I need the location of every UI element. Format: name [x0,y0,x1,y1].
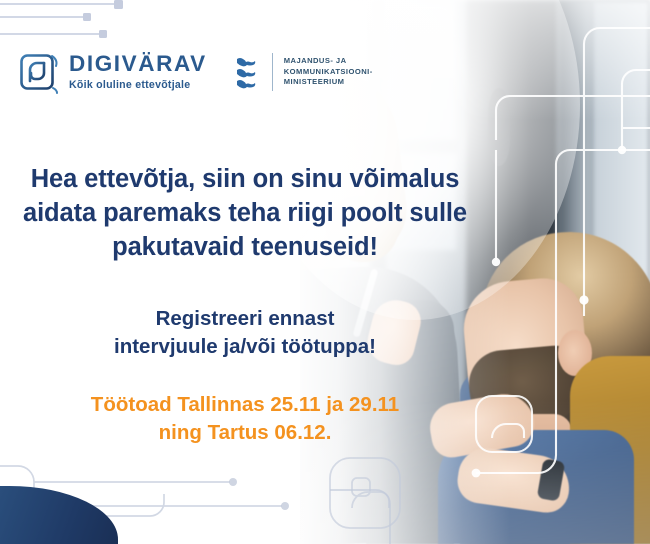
header-logos: DIGIVÄRAV Kõik oluline ettevõtjale Majan… [18,50,373,94]
dates-line-2: ning Tartus 06.12. [0,419,490,447]
brand-name: DIGIVÄRAV [69,53,207,76]
registration-callout: Registreeri ennast intervjuule ja/või tö… [0,305,490,362]
brand-tagline: Kõik oluline ettevõtjale [69,80,207,91]
dates-line-1: Töötoad Tallinnas 25.11 ja 29.11 [0,391,490,419]
promotional-banner: DIGIVÄRAV Kõik oluline ettevõtjale Majan… [0,0,650,544]
ministry-line-3: Ministeerium [284,77,373,88]
headline: Hea ettevõtja, siin on sinu võimalus aid… [0,163,490,265]
headline-line-2: aidata paremaks teha riigi poolt sulle [0,197,490,231]
ministry-divider [272,53,273,91]
ministry-name: Majandus- ja Kommunikatsiooni- Ministeer… [284,56,373,88]
workshop-dates: Töötoad Tallinnas 25.11 ja 29.11 ning Ta… [0,391,490,448]
digivarav-logo-icon [18,50,60,94]
headline-line-1: Hea ettevõtja, siin on sinu võimalus [0,163,490,197]
estonia-coat-of-arms-icon [232,54,262,90]
ministry-logo-block: Majandus- ja Kommunikatsiooni- Ministeer… [232,53,373,91]
headline-line-3: pakutavaid teenuseid! [0,231,490,265]
ministry-line-1: Majandus- ja [284,56,373,67]
subhead-line-1: Registreeri ennast [0,305,490,333]
brand-text: DIGIVÄRAV Kõik oluline ettevõtjale [69,53,207,90]
ministry-line-2: Kommunikatsiooni- [284,67,373,78]
subhead-line-2: intervjuule ja/või töötuppa! [0,333,490,361]
